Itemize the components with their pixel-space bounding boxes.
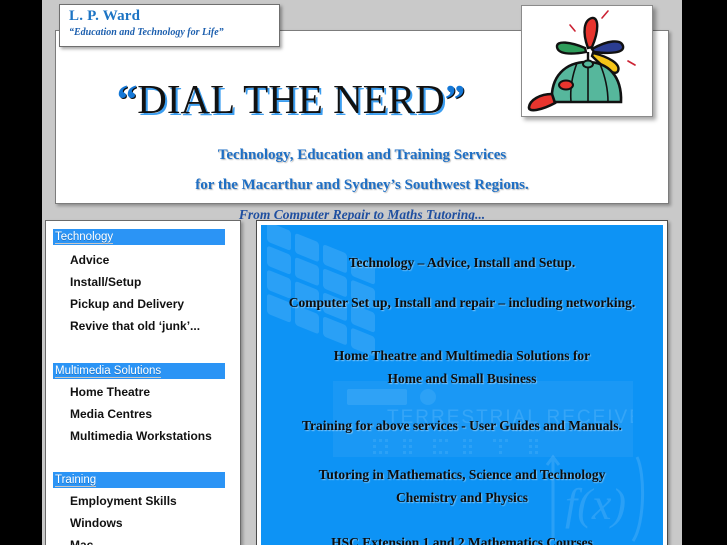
sidebar-nav: Technology Advice Install/Setup Pickup a…	[45, 220, 241, 545]
content-line-5: Training for above services - User Guide…	[261, 418, 663, 434]
sidebar-section-header-technology[interactable]: Technology	[53, 229, 225, 245]
subtitle-line-2: for the Macarthur and Sydney’s Southwest…	[56, 177, 668, 194]
subtitle-line-1: Technology, Education and Training Servi…	[56, 147, 668, 164]
content-line-6: Tutoring in Mathematics, Science and Tec…	[261, 467, 663, 483]
owner-name: L. P. Ward	[69, 8, 140, 25]
sidebar-section-header-training[interactable]: Training	[53, 472, 225, 488]
content-line-3: Home Theatre and Multimedia Solutions fo…	[261, 348, 663, 364]
sidebar-item-revive-old-junk[interactable]: Revive that old ‘junk’...	[70, 319, 200, 333]
title-text: DIAL THE NERD	[137, 76, 444, 122]
content-line-8: HSC Extension 1 and 2 Mathematics Course…	[261, 535, 663, 545]
content-line-4: Home and Small Business	[261, 371, 663, 387]
title-close-quote: ”	[445, 76, 466, 122]
sidebar-item-multimedia-workstations[interactable]: Multimedia Workstations	[70, 429, 212, 443]
sidebar-item-media-centres[interactable]: Media Centres	[70, 407, 152, 421]
sidebar-item-pickup-and-delivery[interactable]: Pickup and Delivery	[70, 297, 184, 311]
content-line-1: Technology – Advice, Install and Setup.	[261, 255, 663, 271]
sidebar-item-windows[interactable]: Windows	[70, 516, 123, 530]
content-line-2: Computer Set up, Install and repair – in…	[261, 295, 663, 311]
letterbox-bar-right	[682, 0, 727, 545]
screenshot-viewport: “DIAL THE NERD” Technology, Education an…	[0, 0, 727, 545]
propeller-beanie-icon	[522, 6, 652, 116]
logo-box	[521, 5, 653, 117]
owner-name-box: L. P. Ward “Education and Technology for…	[59, 4, 280, 47]
page-title: “DIAL THE NERD”	[56, 75, 526, 123]
content-blue-area: TERRESTRIAL RECEIVER	[261, 225, 663, 545]
content-panel: TERRESTRIAL RECEIVER	[256, 220, 668, 545]
owner-tagline: “Education and Technology for Life”	[69, 27, 224, 38]
web-page: “DIAL THE NERD” Technology, Education an…	[42, 0, 682, 545]
sidebar-item-advice[interactable]: Advice	[70, 253, 109, 267]
sidebar-item-employment-skills[interactable]: Employment Skills	[70, 494, 177, 508]
sidebar-item-home-theatre[interactable]: Home Theatre	[70, 385, 150, 399]
sidebar-item-install-setup[interactable]: Install/Setup	[70, 275, 141, 289]
keyboard-watermark-icon	[261, 225, 409, 360]
content-line-7: Chemistry and Physics	[261, 490, 663, 506]
letterbox-bar-left	[0, 0, 42, 545]
sidebar-section-header-multimedia-solutions[interactable]: Multimedia Solutions	[53, 363, 225, 379]
sidebar-item-mac[interactable]: Mac	[70, 538, 93, 545]
title-open-quote: “	[117, 76, 138, 122]
